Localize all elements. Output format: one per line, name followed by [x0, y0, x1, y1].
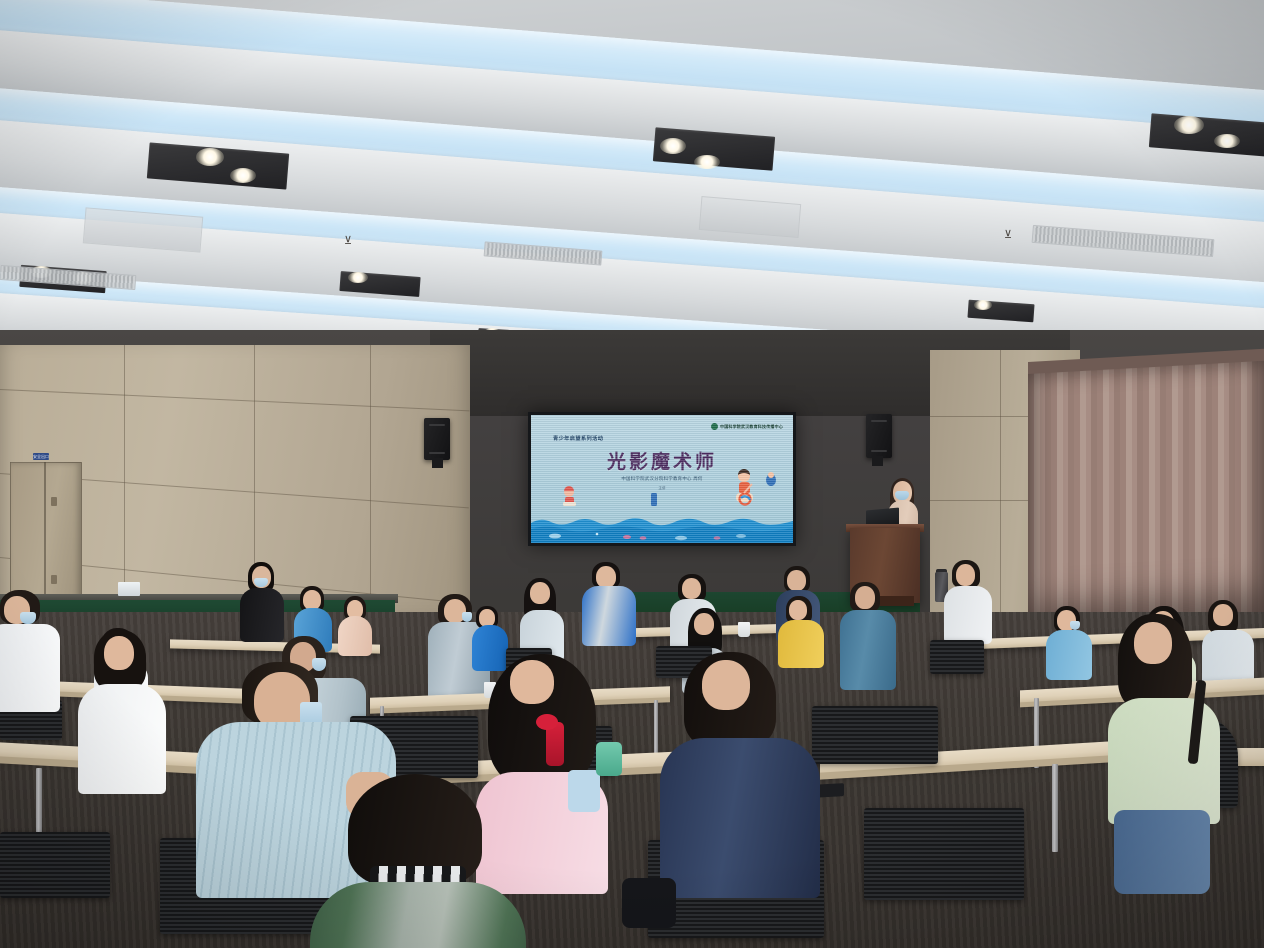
slide-cartoon-child-right — [727, 467, 761, 511]
left-wall-speaker — [424, 418, 450, 460]
institute-emblem-icon — [711, 423, 718, 430]
hair-ribbon-bow — [536, 714, 558, 730]
chair[interactable] — [812, 706, 938, 764]
ceiling-lamp — [694, 155, 720, 169]
institute-logo-text: 中国科学院武汉教育科技传播中心 — [720, 424, 783, 430]
right-speaker-bracket — [872, 456, 883, 466]
lecture-hall-photo: ⊻ ⊻ ⊻ ⊻ 安全出口 — [0, 0, 1264, 948]
green-stool — [596, 742, 622, 776]
slide-cartoon-child-left — [559, 483, 585, 509]
projection-screen: 中国科学院武汉教育科技传播中心 青少年启望系列活动 光影魔术师 中国科学院武汉分… — [531, 415, 793, 543]
sprinkler-head: ⊻ — [1004, 230, 1012, 241]
chair[interactable] — [864, 808, 1024, 900]
backpack — [622, 878, 676, 928]
sprinkler-head: ⊻ — [344, 236, 352, 247]
slide-cartoon-post — [647, 491, 661, 509]
slide-kicker: 青少年启望系列活动 — [553, 435, 603, 442]
desk-leg — [654, 700, 658, 758]
wave-illustration — [531, 509, 793, 543]
ceiling-lamp — [230, 168, 256, 183]
ceiling-lamp — [1174, 116, 1204, 134]
ceiling-lamp — [974, 300, 992, 310]
chair[interactable] — [0, 832, 110, 898]
paper-cup — [738, 622, 750, 637]
exit-sign: 安全出口 — [33, 453, 49, 460]
tissue-box — [118, 582, 140, 596]
right-wall-speaker — [866, 414, 892, 458]
ceiling-lamp — [196, 148, 224, 166]
desk-leg — [1052, 764, 1058, 852]
left-speaker-bracket — [432, 458, 443, 468]
jeans — [1114, 810, 1210, 894]
chair[interactable] — [930, 640, 984, 674]
stage-curtain — [1028, 355, 1264, 630]
folded-mask — [568, 770, 600, 812]
slide-cartoon-bird — [763, 471, 779, 489]
ceiling-lamp — [660, 138, 686, 154]
ceiling-lamp — [1214, 134, 1240, 148]
ceiling-lamp — [348, 272, 368, 283]
institute-logo: 中国科学院武汉教育科技传播中心 — [711, 423, 783, 430]
projection-screen-frame: 中国科学院武汉教育科技传播中心 青少年启望系列活动 光影魔术师 中国科学院武汉分… — [528, 412, 796, 546]
